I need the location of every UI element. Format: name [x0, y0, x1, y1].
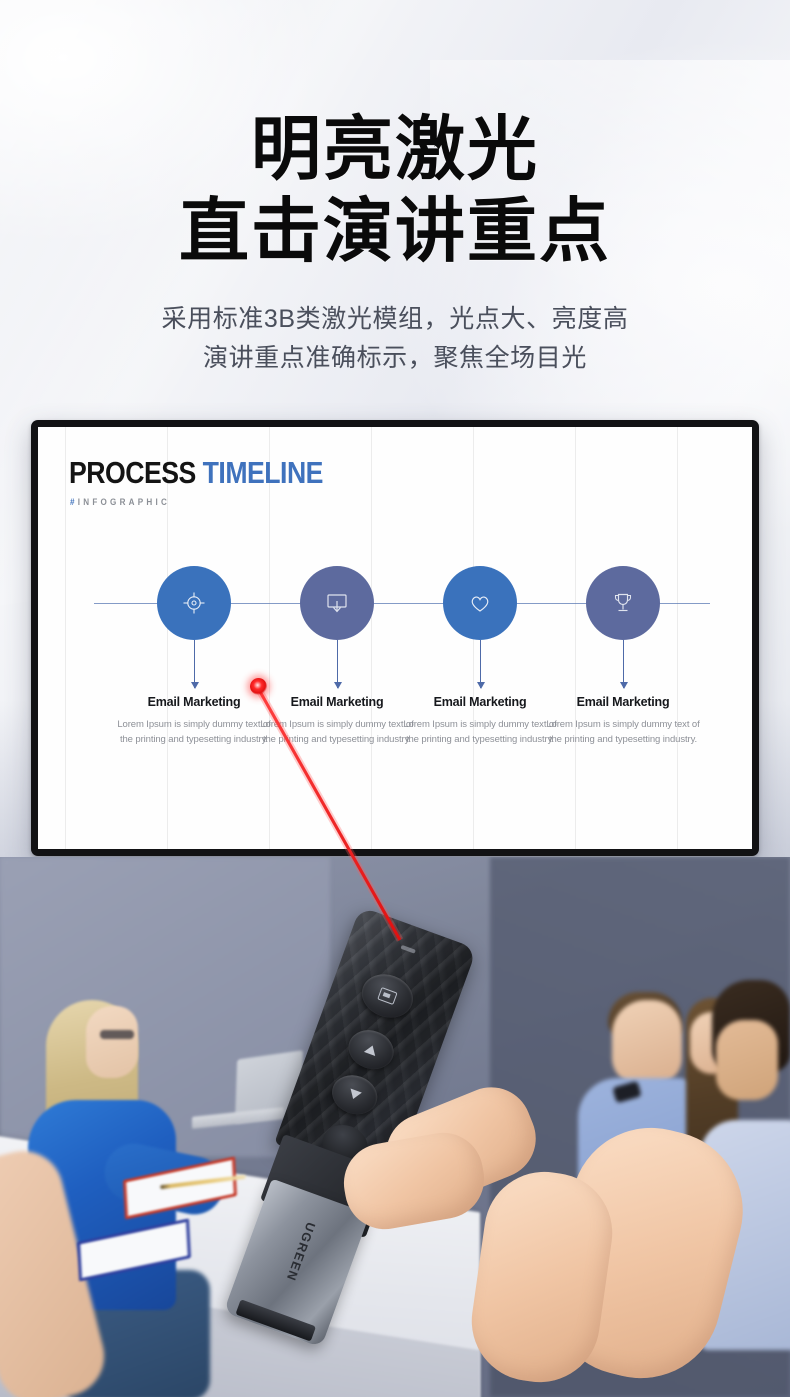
timeline-column-4: Email Marketing Lorem Ipsum is simply du… — [543, 695, 703, 747]
subtitle-line-1: 采用标准3B类激光模组，光点大、亮度高 — [0, 300, 790, 339]
timeline-stem-3 — [480, 640, 481, 688]
page-title: 明亮激光 直击演讲重点 — [0, 112, 790, 268]
headline-line-1: 明亮激光 — [0, 112, 790, 186]
trophy-icon — [610, 590, 636, 616]
timeline-node-4[interactable] — [586, 566, 660, 640]
slide-title: PROCESS TIMELINE — [69, 457, 323, 488]
timeline-node-1[interactable] — [157, 566, 231, 640]
timeline-node-3[interactable] — [443, 566, 517, 640]
column-heading: Email Marketing — [400, 695, 560, 709]
product-marketing-page: 明亮激光 直击演讲重点 采用标准3B类激光模组，光点大、亮度高 演讲重点准确标示… — [0, 0, 790, 1397]
column-heading: Email Marketing — [543, 695, 703, 709]
triangle-down-icon — [347, 1088, 361, 1101]
timeline-stem-2 — [337, 640, 338, 688]
column-heading: Email Marketing — [257, 695, 417, 709]
timeline-stem-1 — [194, 640, 195, 688]
slide-title-word-1: PROCESS — [69, 455, 196, 490]
laser-dot — [250, 678, 267, 695]
attendee-right-1-head — [612, 1000, 682, 1084]
column-heading: Email Marketing — [114, 695, 274, 709]
attendee-left-face — [86, 1006, 138, 1078]
heart-icon — [467, 590, 493, 616]
slide-hashtag: #INFOGRAPHIC — [70, 497, 170, 507]
attendee-right-3-face — [716, 1020, 778, 1100]
timeline-column-3: Email Marketing Lorem Ipsum is simply du… — [400, 695, 560, 747]
slide-gridlines — [38, 427, 752, 849]
monitor-download-icon — [324, 590, 350, 616]
screen-icon — [377, 987, 397, 1005]
presentation-slide: PROCESS TIMELINE #INFOGRAPHIC — [38, 427, 752, 849]
timeline-stem-4 — [623, 640, 624, 688]
brand-logo: UGREEN — [284, 1220, 318, 1283]
timeline-column-1: Email Marketing Lorem Ipsum is simply du… — [114, 695, 274, 747]
column-body: Lorem Ipsum is simply dummy text of the … — [543, 718, 703, 747]
page-subtitle: 采用标准3B类激光模组，光点大、亮度高 演讲重点准确标示，聚焦全场目光 — [0, 300, 790, 378]
slide-title-word-2: TIMELINE — [203, 455, 323, 490]
timeline-node-2[interactable] — [300, 566, 374, 640]
hashtag-label: INFOGRAPHIC — [78, 497, 170, 507]
attendee-left-glasses — [100, 1030, 134, 1039]
column-body: Lorem Ipsum is simply dummy text of the … — [400, 718, 560, 747]
timeline-column-2: Email Marketing Lorem Ipsum is simply du… — [257, 695, 417, 747]
column-body: Lorem Ipsum is simply dummy text of the … — [257, 718, 417, 747]
projector-screen: PROCESS TIMELINE #INFOGRAPHIC — [31, 420, 759, 856]
target-icon — [181, 590, 207, 616]
column-body: Lorem Ipsum is simply dummy text of the … — [114, 718, 274, 747]
triangle-up-icon — [364, 1043, 378, 1056]
hash-symbol: # — [70, 497, 78, 507]
headline-line-2: 直击演讲重点 — [0, 194, 790, 268]
subtitle-line-2: 演讲重点准确标示，聚焦全场目光 — [0, 339, 790, 378]
